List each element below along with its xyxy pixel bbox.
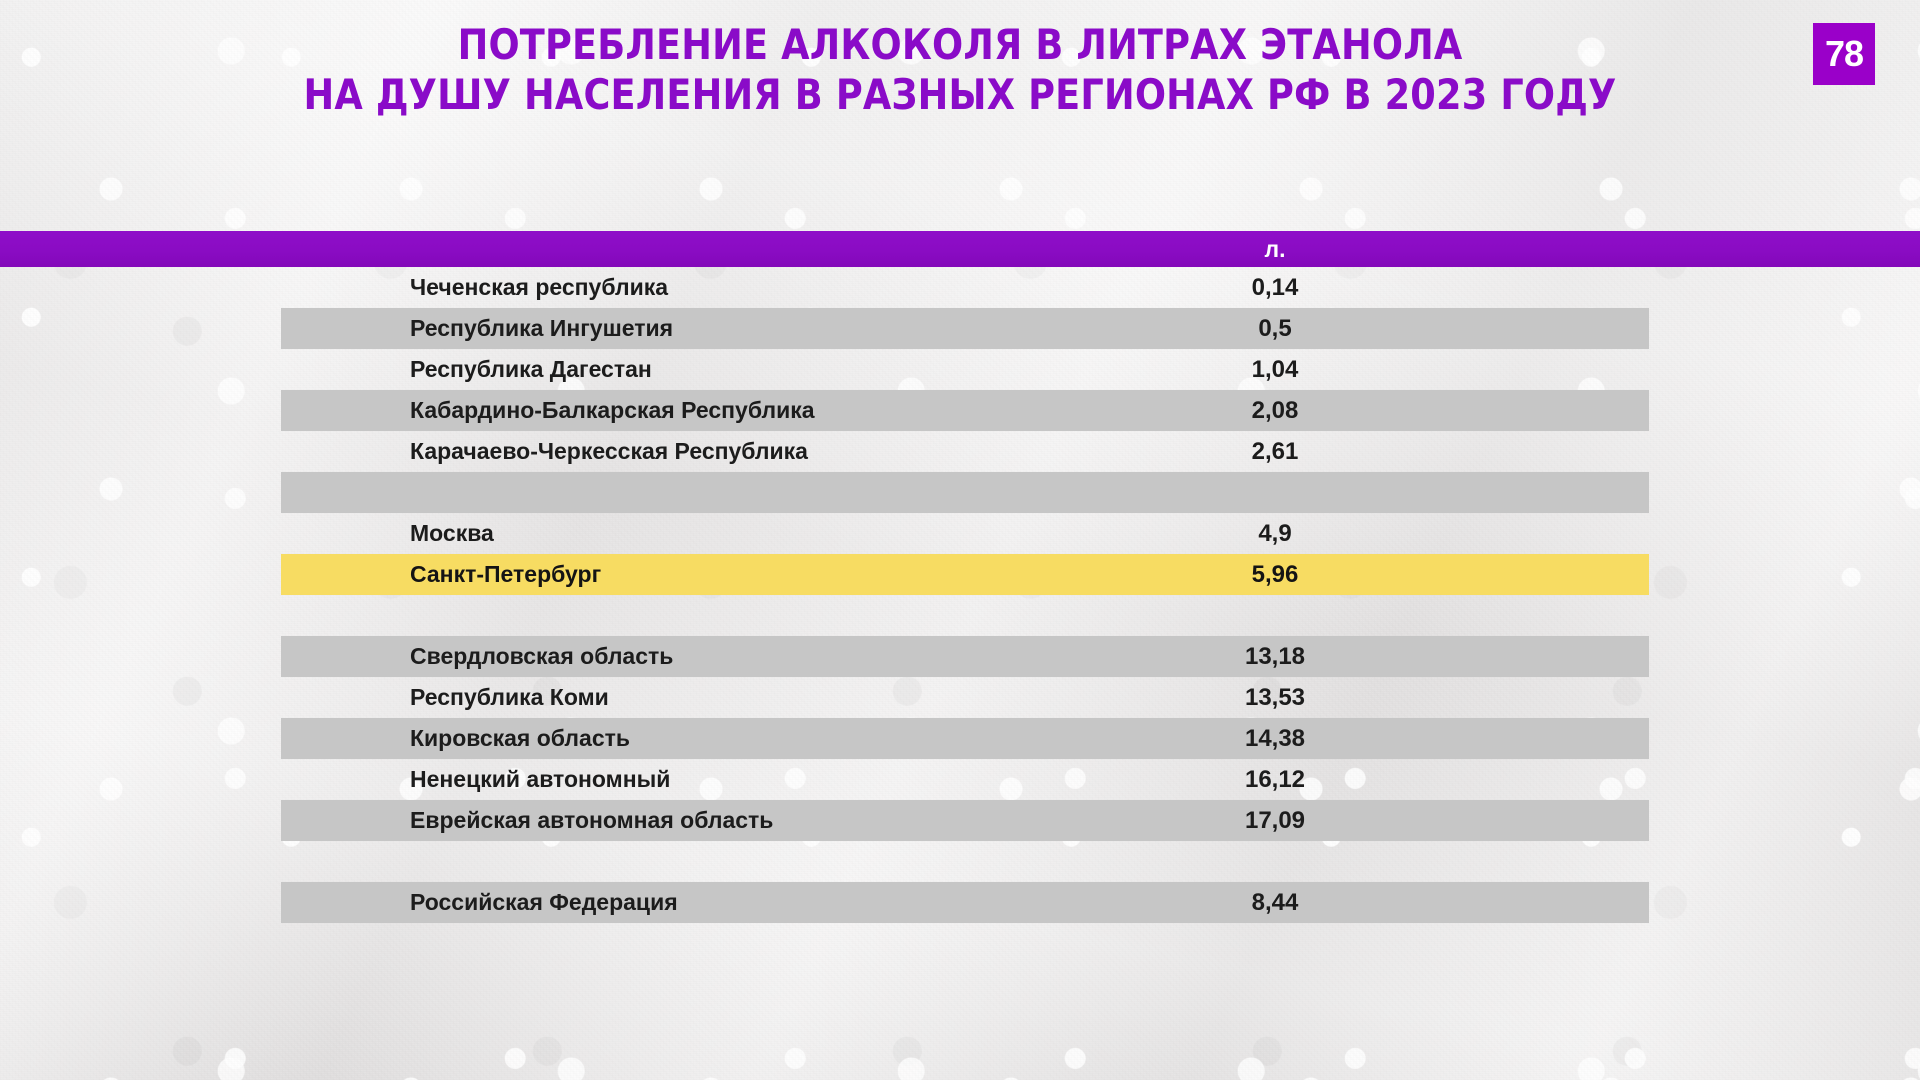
region-name: Москва: [410, 513, 494, 554]
table-row: Кабардино-Балкарская Республика2,08: [0, 390, 1920, 431]
table-row: Кировская область14,38: [0, 718, 1920, 759]
region-name: Свердловская область: [410, 636, 673, 677]
region-value: 13,18: [1150, 636, 1400, 677]
region-name: Карачаево-Черкесская Республика: [410, 431, 808, 472]
region-value: 0,5: [1150, 308, 1400, 349]
region-name: Еврейская автономная область: [410, 800, 773, 841]
table-row: Российская Федерация8,44: [0, 882, 1920, 923]
region-name: Ненецкий автономный: [410, 759, 670, 800]
logo-label: 78: [1825, 36, 1863, 72]
data-table: Чеченская республика0,14Республика Ингуш…: [0, 267, 1920, 923]
region-value: 14,38: [1150, 718, 1400, 759]
region-name: Кировская область: [410, 718, 630, 759]
row-background: [281, 472, 1649, 513]
region-value: 1,04: [1150, 349, 1400, 390]
row-background: [281, 841, 1649, 882]
table-row: Карачаево-Черкесская Республика2,61: [0, 431, 1920, 472]
region-value: 13,53: [1150, 677, 1400, 718]
table-spacer-row: [0, 472, 1920, 513]
table-row: Республика Ингушетия0,5: [0, 308, 1920, 349]
header: ПОТРЕБЛЕНИЕ АЛКОКОЛЯ В ЛИТРАХ ЭТАНОЛА НА…: [0, 0, 1920, 150]
region-value: 2,08: [1150, 390, 1400, 431]
table-spacer-row: [0, 841, 1920, 882]
table-row: Республика Коми13,53: [0, 677, 1920, 718]
table-row: Санкт-Петербург5,96: [0, 554, 1920, 595]
table-row: Чеченская республика0,14: [0, 267, 1920, 308]
table-row: Ненецкий автономный16,12: [0, 759, 1920, 800]
region-value: 2,61: [1150, 431, 1400, 472]
table-spacer-row: [0, 595, 1920, 636]
region-value: 8,44: [1150, 882, 1400, 923]
region-name: Республика Дагестан: [410, 349, 652, 390]
page-title: ПОТРЕБЛЕНИЕ АЛКОКОЛЯ В ЛИТРАХ ЭТАНОЛА НА…: [29, 20, 1891, 120]
unit-header-bar: л.: [0, 231, 1920, 267]
table-row: Еврейская автономная область17,09: [0, 800, 1920, 841]
region-name: Санкт-Петербург: [410, 554, 601, 595]
region-value: 5,96: [1150, 554, 1400, 595]
unit-label: л.: [1150, 231, 1400, 267]
channel-78-logo: 78: [1813, 23, 1875, 85]
region-value: 16,12: [1150, 759, 1400, 800]
region-value: 0,14: [1150, 267, 1400, 308]
region-name: Республика Коми: [410, 677, 609, 718]
region-name: Республика Ингушетия: [410, 308, 673, 349]
region-name: Кабардино-Балкарская Республика: [410, 390, 815, 431]
table-row: Свердловская область13,18: [0, 636, 1920, 677]
table-row: Москва4,9: [0, 513, 1920, 554]
region-name: Российская Федерация: [410, 882, 678, 923]
region-value: 17,09: [1150, 800, 1400, 841]
row-background: [281, 595, 1649, 636]
region-name: Чеченская республика: [410, 267, 668, 308]
table-row: Республика Дагестан1,04: [0, 349, 1920, 390]
infographic-page: ПОТРЕБЛЕНИЕ АЛКОКОЛЯ В ЛИТРАХ ЭТАНОЛА НА…: [0, 0, 1920, 1080]
region-value: 4,9: [1150, 513, 1400, 554]
